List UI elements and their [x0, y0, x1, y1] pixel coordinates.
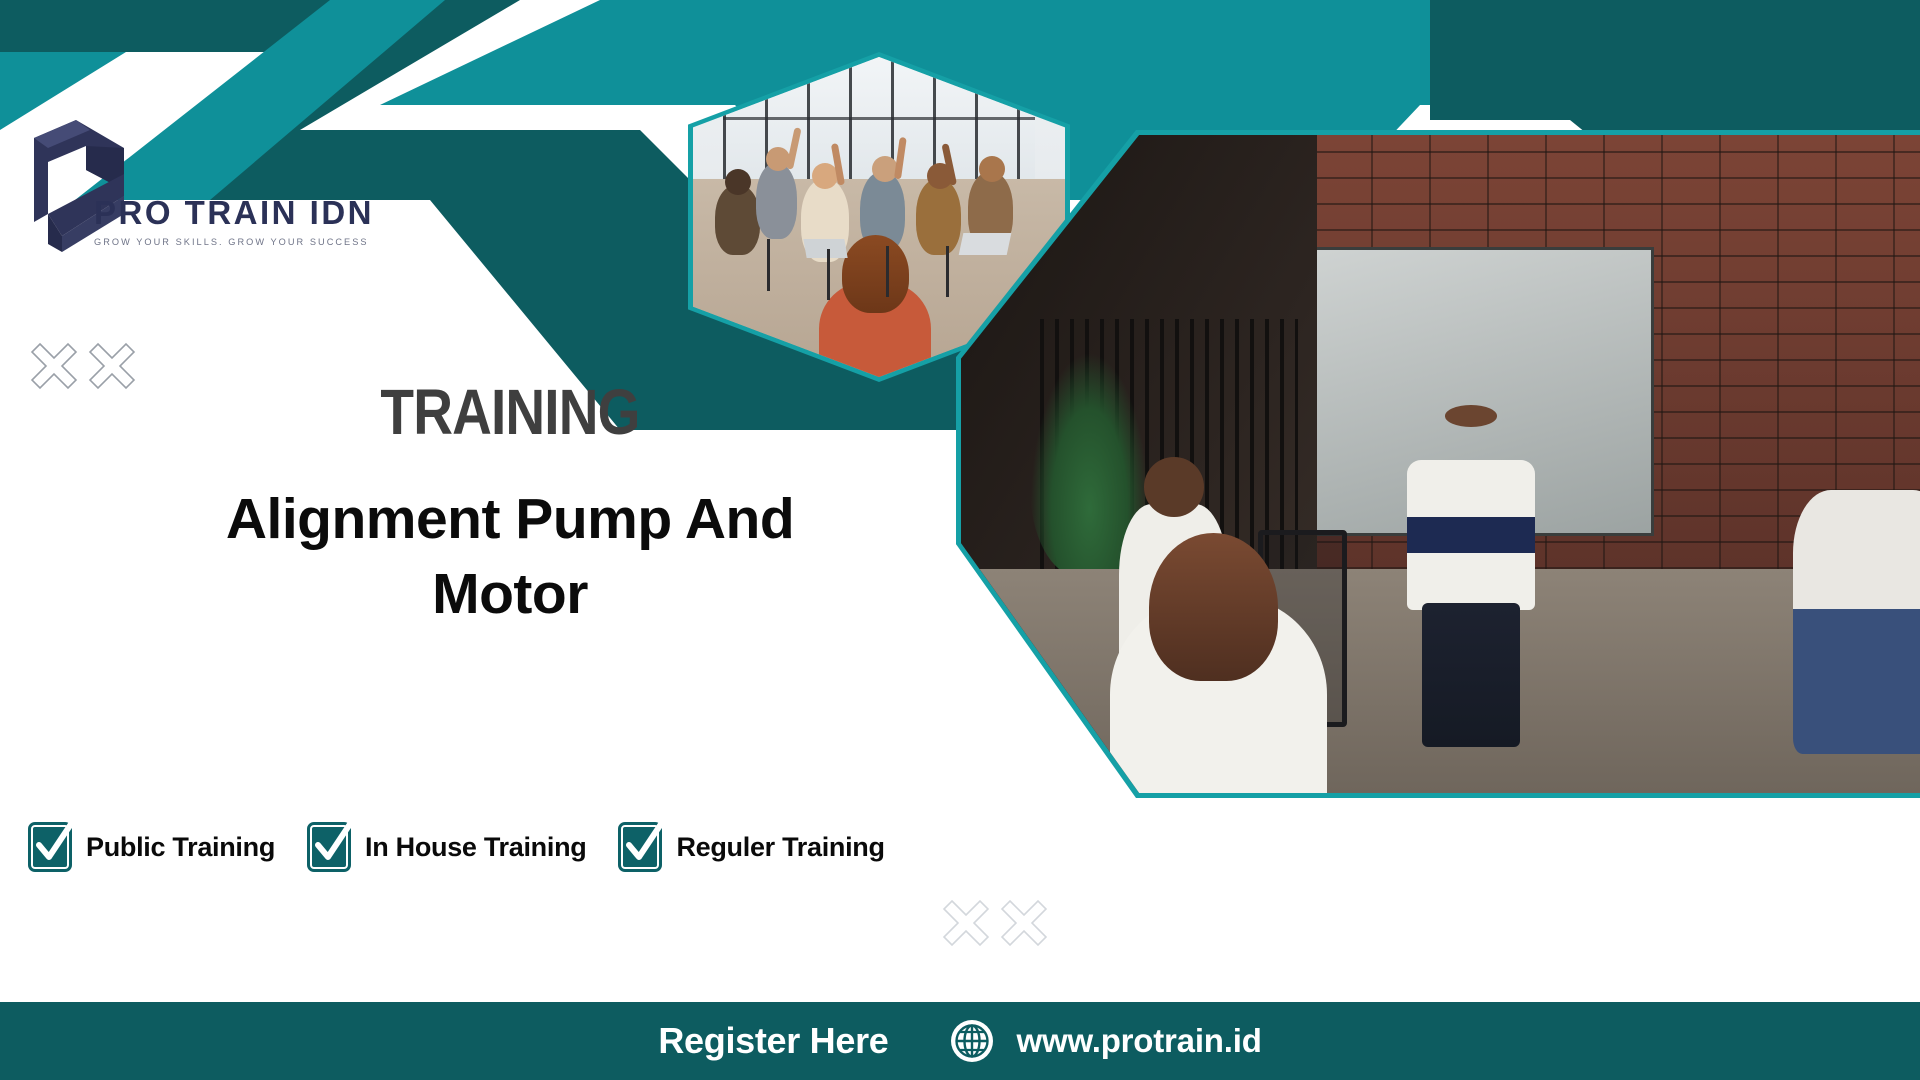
chair-leg [827, 249, 830, 300]
photo-seminar-artwork [961, 135, 1920, 793]
training-promo-poster: PRO TRAIN IDN GROW YOUR SKILLS. GROW YOU… [0, 0, 1920, 1080]
speaker-legs [1422, 603, 1520, 747]
checkmark-icon [618, 816, 668, 872]
chair-leg [946, 246, 949, 297]
attendee-head [872, 156, 898, 182]
x-mark-icon [996, 895, 1052, 951]
brand-name: PRO TRAIN IDN [94, 194, 374, 232]
checkbox-in-house-training[interactable] [307, 822, 351, 872]
xx-outline-decoration-bottom [938, 895, 1052, 951]
website-url: www.protrain.id [1017, 1022, 1262, 1060]
hero-title-line-1: Alignment Pump And [60, 482, 960, 557]
register-here-cta[interactable]: Register Here [658, 1020, 888, 1062]
training-option-label: In House Training [365, 832, 586, 863]
speaker-body [1407, 460, 1536, 611]
laptop [803, 239, 847, 258]
attendee-head [725, 169, 751, 195]
training-option-reguler[interactable]: Reguler Training [618, 822, 884, 872]
hero-text-block: TRAINING Alignment Pump And Motor [60, 380, 960, 632]
brand-logo-text: PRO TRAIN IDN GROW YOUR SKILLS. GROW YOU… [94, 194, 374, 247]
training-option-label: Public Training [86, 832, 275, 863]
photo-speaker-presenting-to-audience [956, 130, 1920, 798]
hero-title-line-2: Motor [60, 557, 960, 632]
hero-title: Alignment Pump And Motor [60, 482, 960, 632]
x-mark-icon [938, 895, 994, 951]
audience-member-right [1793, 490, 1920, 753]
checkmark-icon [28, 816, 78, 872]
audience-member-head [1144, 457, 1203, 516]
checkmark-icon [307, 816, 357, 872]
brand-tagline: GROW YOUR SKILLS. GROW YOUR SUCCESS [94, 237, 374, 247]
foreground-audience-head [1149, 533, 1278, 682]
website-link[interactable]: www.protrain.id [949, 1018, 1262, 1064]
training-option-public[interactable]: Public Training [28, 822, 275, 872]
training-option-label: Reguler Training [676, 832, 884, 863]
checkbox-public-training[interactable] [28, 822, 72, 872]
foreground-attendee-head [842, 235, 909, 313]
attendee-figure [756, 163, 797, 240]
training-options-list: Public Training In House Training Regule… [28, 822, 885, 872]
training-option-in-house[interactable]: In House Training [307, 822, 586, 872]
hero-kicker: TRAINING [123, 380, 897, 444]
checkbox-reguler-training[interactable] [618, 822, 662, 872]
chair-leg [886, 246, 889, 297]
attendee-figure [715, 185, 760, 255]
attendee-figure [916, 179, 961, 256]
speaker-figure [1407, 405, 1536, 747]
chair-leg [767, 239, 770, 290]
footer-bar: Register Here www.protrain.id [0, 1002, 1920, 1080]
speaker-head [1445, 405, 1496, 427]
globe-icon [949, 1018, 995, 1064]
photo-seminar-inner-frame [961, 135, 1920, 793]
laptop [958, 233, 1011, 255]
